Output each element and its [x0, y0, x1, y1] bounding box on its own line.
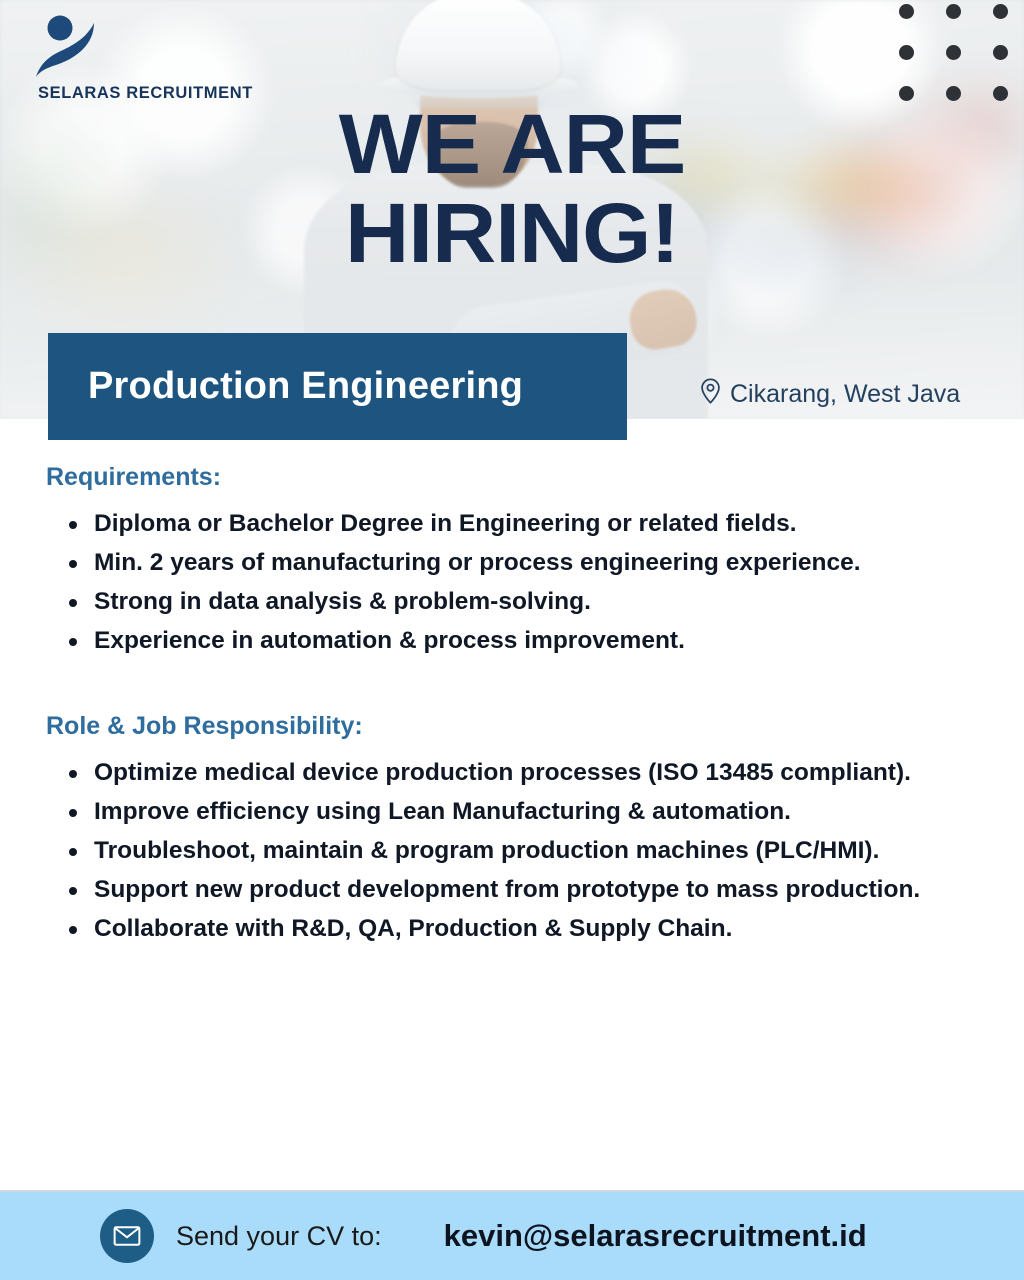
list-item: Troubleshoot, maintain & program product… [62, 835, 988, 867]
list-item: Diploma or Bachelor Degree in Engineerin… [62, 508, 988, 540]
list-item: Strong in data analysis & problem-solvin… [62, 586, 988, 618]
requirements-heading: Requirements: [46, 463, 988, 492]
list-item: Min. 2 years of manufacturing or process… [62, 547, 988, 579]
contact-email[interactable]: kevin@selarasrecruitment.id [444, 1218, 867, 1254]
job-poster: SELARAS RECRUITMENT WE ARE HIRING! Produ… [0, 0, 1024, 1280]
person-swoosh-logo-icon [34, 14, 104, 82]
responsibility-list: Optimize medical device production proce… [36, 757, 988, 944]
map-pin-icon [700, 378, 721, 411]
brand-name: SELARAS RECRUITMENT [38, 84, 253, 103]
cv-label: Send your CV to: [176, 1221, 382, 1252]
responsibility-heading: Role & Job Responsibility: [46, 712, 988, 741]
list-item: Improve efficiency using Lean Manufactur… [62, 796, 988, 828]
job-title: Production Engineering [48, 365, 523, 408]
job-location-label: Cikarang, West Java [730, 380, 960, 409]
envelope-icon [100, 1209, 154, 1263]
requirements-list: Diploma or Bachelor Degree in Engineerin… [36, 508, 988, 656]
list-item: Experience in automation & process impro… [62, 625, 988, 657]
contact-footer: Send your CV to: kevin@selarasrecruitmen… [0, 1190, 1024, 1280]
list-item: Support new product development from pro… [62, 874, 988, 906]
job-title-banner: Production Engineering [48, 333, 627, 440]
job-location: Cikarang, West Java [700, 378, 960, 411]
list-item: Collaborate with R&D, QA, Production & S… [62, 913, 988, 945]
list-item: Optimize medical device production proce… [62, 757, 988, 789]
job-details: Requirements: Diploma or Bachelor Degree… [0, 419, 1024, 1190]
brand-logo: SELARAS RECRUITMENT [22, 14, 252, 104]
dot-grid-icon [899, 4, 1008, 101]
